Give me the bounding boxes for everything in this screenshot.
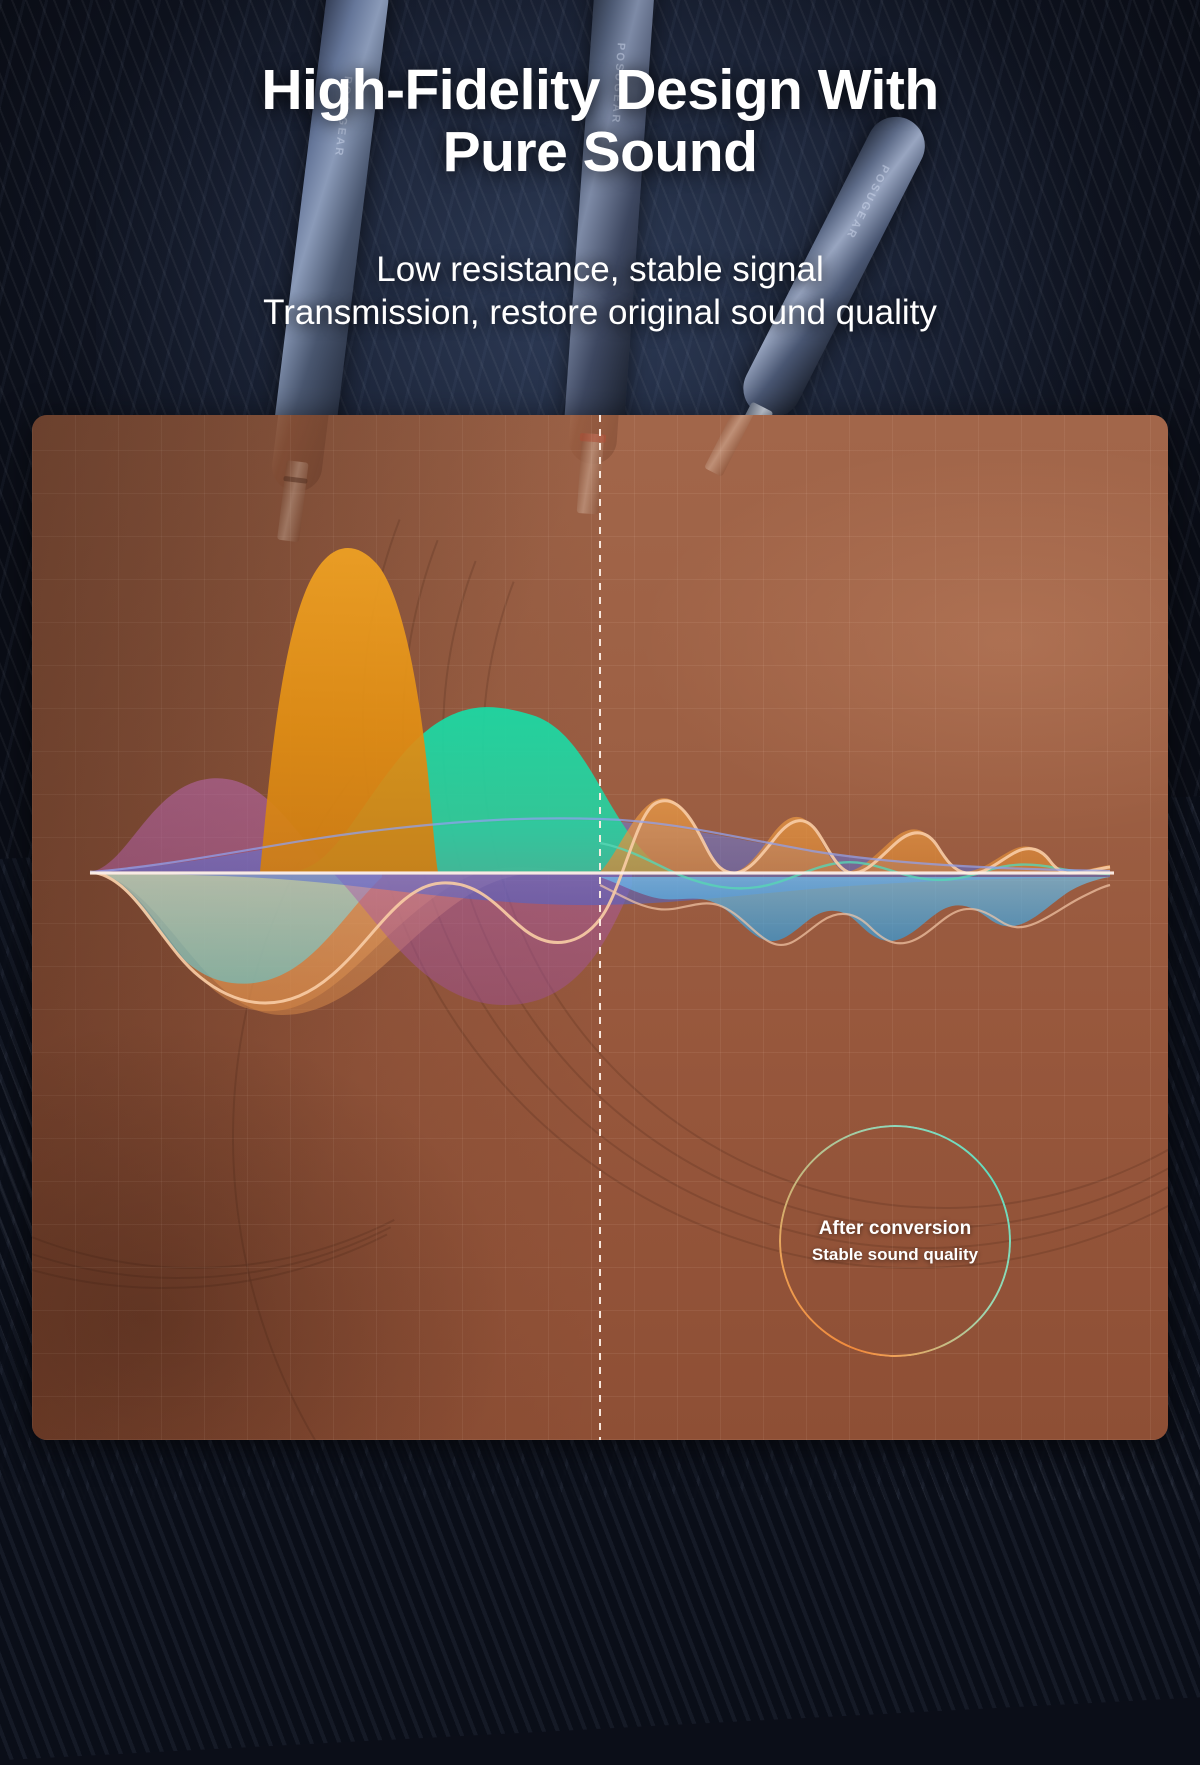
callout-after-conversion: After conversion Stable sound quality — [779, 1125, 1011, 1357]
headline-line-1: High-Fidelity Design With — [0, 60, 1200, 122]
headline-line-2: Pure Sound — [0, 122, 1200, 184]
callout-after-subtitle: Stable sound quality — [812, 1245, 978, 1265]
waveform-comparison-panel: Before conversion fluctuating sound qual… — [32, 415, 1168, 1440]
subheadline-line-2: Transmission, restore original sound qua… — [0, 291, 1200, 334]
page-headline: High-Fidelity Design With Pure Sound — [0, 60, 1200, 183]
before-after-divider — [599, 415, 601, 1440]
page-subheadline: Low resistance, stable signal Transmissi… — [0, 248, 1200, 335]
subheadline-line-1: Low resistance, stable signal — [0, 248, 1200, 291]
callout-after-title: After conversion — [819, 1218, 972, 1240]
wave-orange-peak — [260, 548, 438, 872]
